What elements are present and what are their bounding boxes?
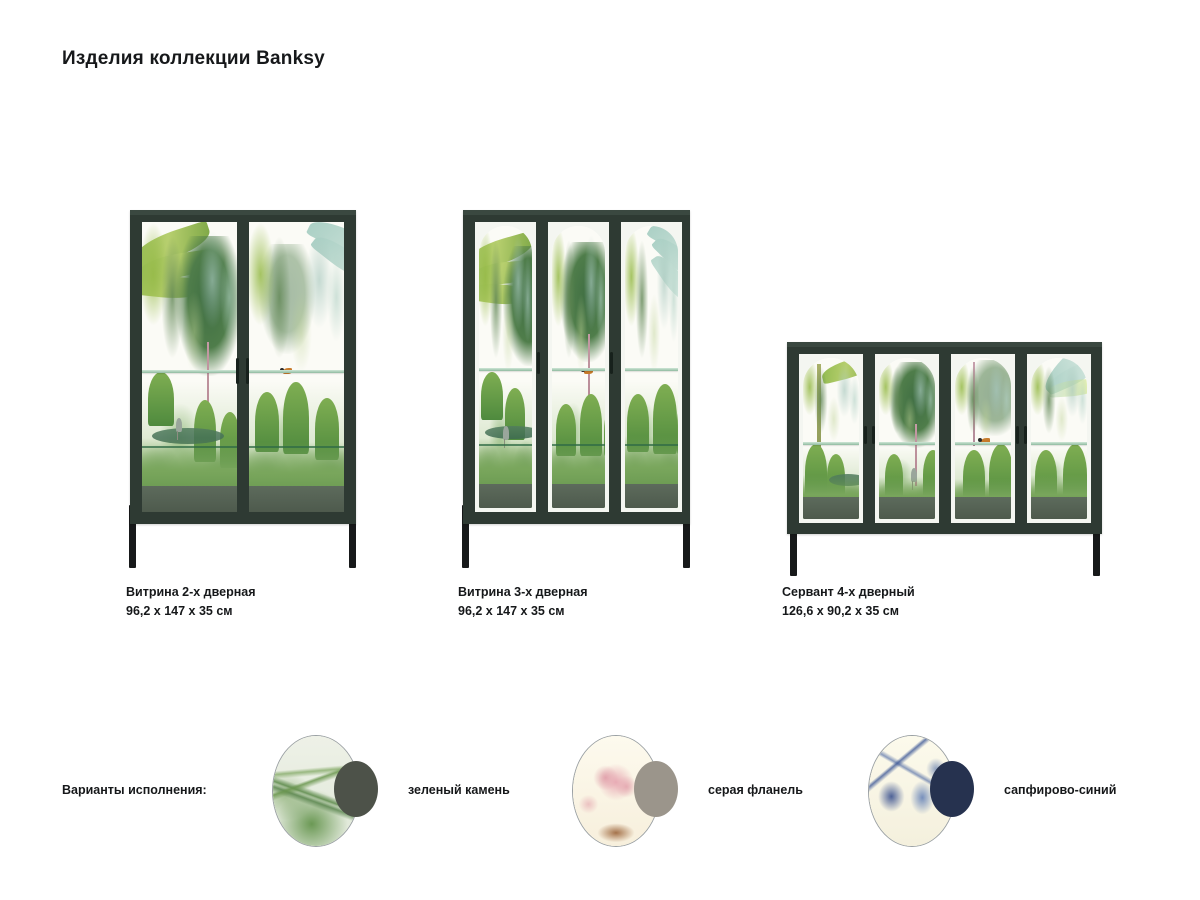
door-handle-2[interactable] [872,426,875,444]
variant-label-sapphire-blue: сапфирово-синий [1004,783,1116,797]
door-handle-4[interactable] [1024,426,1027,444]
product-caption-servant-4: Сервант 4-х дверный 126,6 x 90,2 x 35 см [782,583,915,622]
glass-shelf [955,442,1011,445]
swatch-solid-grey-flannel[interactable] [634,761,678,817]
catalog-page: Изделия коллекции Banksy [0,0,1200,900]
product-caption-vitrina-2: Витрина 2-х дверная 96,2 x 147 x 35 см [126,583,256,622]
product-servant-4[interactable]: Сервант 4-х дверный 126,6 x 90,2 x 35 см [778,338,1118,570]
product-name: Витрина 2-х дверная [126,583,256,602]
swatch-solid-green-stone[interactable] [334,761,378,817]
door-glass-3 [625,226,678,508]
door-glass-2 [249,222,344,512]
sideboard-door-4[interactable] [1021,348,1097,529]
product-dimensions: 126,6 x 90,2 x 35 см [782,602,915,621]
sideboard-base-panel [1031,497,1087,519]
door-glass-2 [879,358,935,519]
glass-shelf [803,442,859,445]
glass-shelf-upper [249,370,344,373]
product-dimensions: 96,2 x 147 x 35 см [458,602,588,621]
door-handle-2[interactable] [610,352,613,374]
cabinet-door-2[interactable] [243,216,350,518]
botanical-mural [249,222,344,512]
sideboard-base-panel [955,497,1011,519]
botanical-mural [479,226,532,508]
cabinet-door-3[interactable] [615,216,688,518]
heron-figure [503,426,509,440]
variant-label-grey-flannel: серая фланель [708,783,803,797]
glass-shelf-upper [552,368,605,371]
glass-shelf [1031,442,1087,445]
botanical-mural [955,358,1011,519]
door-handle-1[interactable] [864,426,867,444]
door-handle-1[interactable] [537,352,540,374]
glass-shelf-lower [142,446,237,448]
glass-shelf [879,442,935,445]
cabinet-base-panel [249,486,344,512]
botanical-mural [625,226,678,508]
botanical-mural [142,222,237,512]
glass-shelf-lower [552,444,605,446]
cabinet-base-panel [142,486,237,512]
product-vitrina-2[interactable]: Витрина 2-х дверная 96,2 x 147 x 35 см [118,210,368,570]
sideboard-door-1[interactable] [793,348,869,529]
product-name: Витрина 3-х дверная [458,583,588,602]
door-handle-right[interactable] [246,358,249,384]
door-glass-1 [479,226,532,508]
glass-shelf-lower [625,444,678,446]
door-handle-3[interactable] [1016,426,1019,444]
sideboard-top-edge [787,342,1102,347]
variant-label-green-stone: зеленый камень [408,783,510,797]
cabinet-body [463,210,690,524]
glass-shelf-lower [249,446,344,448]
cabinet-door-1[interactable] [136,216,243,518]
cabinet-base-panel [479,484,532,508]
sideboard-base-panel [879,497,935,519]
botanical-mural [803,358,859,519]
product-name: Сервант 4-х дверный [782,583,915,602]
product-vitrina-3[interactable]: Витрина 3-х дверная 96,2 x 147 x 35 см [450,210,710,570]
sideboard-base-panel [803,497,859,519]
cabinet-top-edge [463,210,690,215]
door-glass-1 [142,222,237,512]
door-glass-3 [955,358,1011,519]
page-title: Изделия коллекции Banksy [62,48,325,70]
swatch-solid-sapphire-blue[interactable] [930,761,974,817]
botanical-mural [552,226,605,508]
door-glass-2 [552,226,605,508]
cabinet-body [130,210,356,524]
cabinet-door-2[interactable] [542,216,615,518]
cabinet-base-panel [552,484,605,508]
sideboard-door-2[interactable] [869,348,945,529]
botanical-mural [1031,358,1087,519]
cabinet-door-1[interactable] [469,216,542,518]
variants-label: Варианты исполнения: [62,783,207,797]
sideboard-door-3[interactable] [945,348,1021,529]
glass-shelf-upper [479,368,532,371]
heron-figure [176,418,182,432]
glass-shelf-upper [625,368,678,371]
door-glass-4 [1031,358,1087,519]
heron-figure [911,468,917,482]
glass-shelf-lower [479,444,532,446]
product-caption-vitrina-3: Витрина 3-х дверная 96,2 x 147 x 35 см [458,583,588,622]
glass-shelf-upper [142,370,237,373]
product-dimensions: 96,2 x 147 x 35 см [126,602,256,621]
door-handle-left[interactable] [236,358,239,384]
door-glass-1 [803,358,859,519]
cabinet-base-panel [625,484,678,508]
botanical-mural [879,358,935,519]
sideboard-body [787,342,1102,534]
cabinet-top-edge [130,210,356,215]
